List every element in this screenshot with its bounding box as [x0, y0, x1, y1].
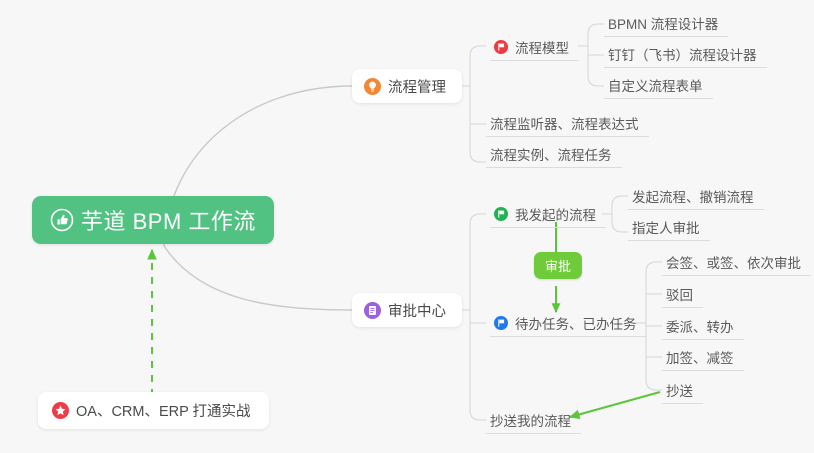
link-pm-to-instance [470, 152, 486, 162]
node-cc[interactable]: 抄送 [662, 377, 703, 404]
node-label: BPMN 流程设计器 [608, 13, 718, 33]
root-node[interactable]: 芋道 BPM 工作流 [32, 196, 274, 244]
branch-label: 审批中心 [388, 300, 446, 321]
flag-blue-icon [494, 316, 508, 330]
star-icon [52, 402, 69, 419]
node-reject[interactable]: 驳回 [662, 281, 703, 308]
node-label: 流程模型 [515, 37, 569, 57]
link-root-to-approval-center [164, 246, 352, 310]
link-model-to-bpmn [588, 24, 604, 34]
integration-note-label: OA、CRM、ERP 打通实战 [76, 400, 251, 421]
node-process-model[interactable]: 流程模型 [490, 34, 579, 61]
node-label: 抄送我的流程 [490, 410, 571, 430]
node-assignee-approval[interactable]: 指定人审批 [628, 214, 710, 241]
node-label: 流程实例、流程任务 [490, 144, 612, 164]
node-cc-my-process[interactable]: 抄送我的流程 [486, 407, 581, 434]
node-label: 加签、减签 [666, 347, 734, 367]
mindmap-canvas: 芋道 BPM 工作流 流程管理 流程模型 BPMN 流程设计器 钉钉（飞书）流程… [0, 0, 814, 453]
node-delegate-transfer[interactable]: 委派、转办 [662, 313, 744, 340]
node-custom-form[interactable]: 自定义流程表单 [604, 72, 713, 99]
node-label: 抄送 [666, 380, 693, 400]
branch-label: 流程管理 [388, 76, 446, 97]
node-dingtalk-designer[interactable]: 钉钉（飞书）流程设计器 [604, 41, 767, 68]
thumbs-up-icon [50, 208, 74, 232]
branch-approval-center[interactable]: 审批中心 [352, 293, 462, 327]
document-icon [364, 302, 381, 319]
link-mi-to-assignee [612, 222, 628, 232]
node-instance-task[interactable]: 流程实例、流程任务 [486, 141, 622, 168]
link-ac-to-my-initiated [470, 214, 486, 224]
lightbulb-icon [364, 78, 381, 95]
node-label: 自定义流程表单 [608, 75, 703, 95]
node-countersign[interactable]: 会签、或签、依次审批 [662, 249, 811, 276]
link-model-to-customform [588, 76, 604, 86]
badge-label: 审批 [545, 256, 571, 275]
node-listener-expression[interactable]: 流程监听器、流程表达式 [486, 110, 649, 137]
arrow-cc-to-cc-my-process [570, 392, 660, 417]
node-label: 会签、或签、依次审批 [666, 252, 801, 272]
node-add-remove-sign[interactable]: 加签、减签 [662, 344, 744, 371]
node-label: 发起流程、撤销流程 [632, 186, 754, 206]
flag-red-icon [494, 40, 508, 54]
node-label: 委派、转办 [666, 316, 734, 336]
link-mi-to-start [612, 196, 628, 206]
node-my-initiated-process[interactable]: 我发起的流程 [490, 201, 606, 228]
flag-green-icon [494, 207, 508, 221]
integration-note-node[interactable]: OA、CRM、ERP 打通实战 [38, 392, 269, 429]
node-bpmn-designer[interactable]: BPMN 流程设计器 [604, 10, 728, 37]
link-ac-to-cc-my [470, 410, 486, 420]
node-label: 指定人审批 [632, 217, 700, 237]
node-label: 驳回 [666, 284, 693, 304]
node-label: 待办任务、已办任务 [515, 313, 637, 333]
link-todo-to-cc [646, 380, 662, 390]
branch-process-management[interactable]: 流程管理 [352, 69, 462, 103]
link-todo-to-countersign [646, 262, 662, 272]
node-todo-done-tasks[interactable]: 待办任务、已办任务 [490, 310, 647, 337]
link-pm-to-process-model [470, 46, 486, 56]
node-label: 钉钉（飞书）流程设计器 [608, 44, 757, 64]
node-label: 我发起的流程 [515, 204, 596, 224]
root-label: 芋道 BPM 工作流 [81, 204, 256, 236]
node-start-cancel-process[interactable]: 发起流程、撤销流程 [628, 183, 764, 210]
approval-badge[interactable]: 审批 [534, 252, 582, 279]
node-label: 流程监听器、流程表达式 [490, 113, 639, 133]
